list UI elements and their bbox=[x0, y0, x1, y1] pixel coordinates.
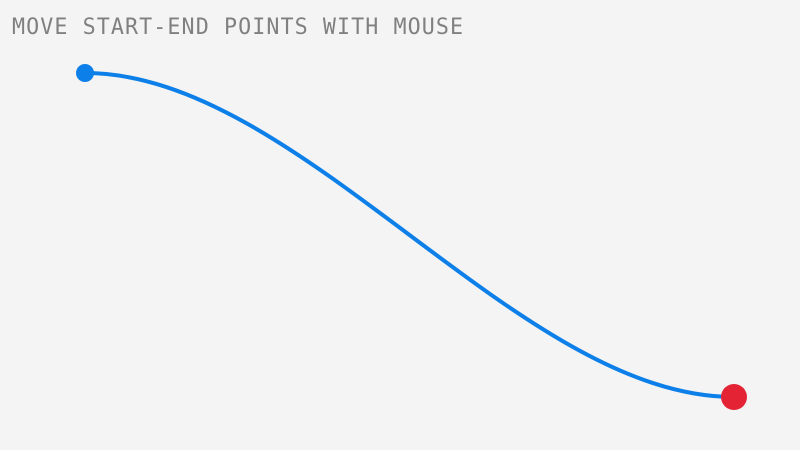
end-point-handle[interactable] bbox=[721, 384, 747, 410]
start-point-handle[interactable] bbox=[76, 64, 94, 82]
bezier-curve-path bbox=[85, 73, 734, 397]
page-title: MOVE START-END POINTS WITH MOUSE bbox=[12, 15, 464, 41]
curve-svg bbox=[0, 0, 800, 450]
app-root: MOVE START-END POINTS WITH MOUSE bbox=[0, 0, 800, 450]
curve-canvas[interactable]: MOVE START-END POINTS WITH MOUSE bbox=[0, 0, 800, 450]
